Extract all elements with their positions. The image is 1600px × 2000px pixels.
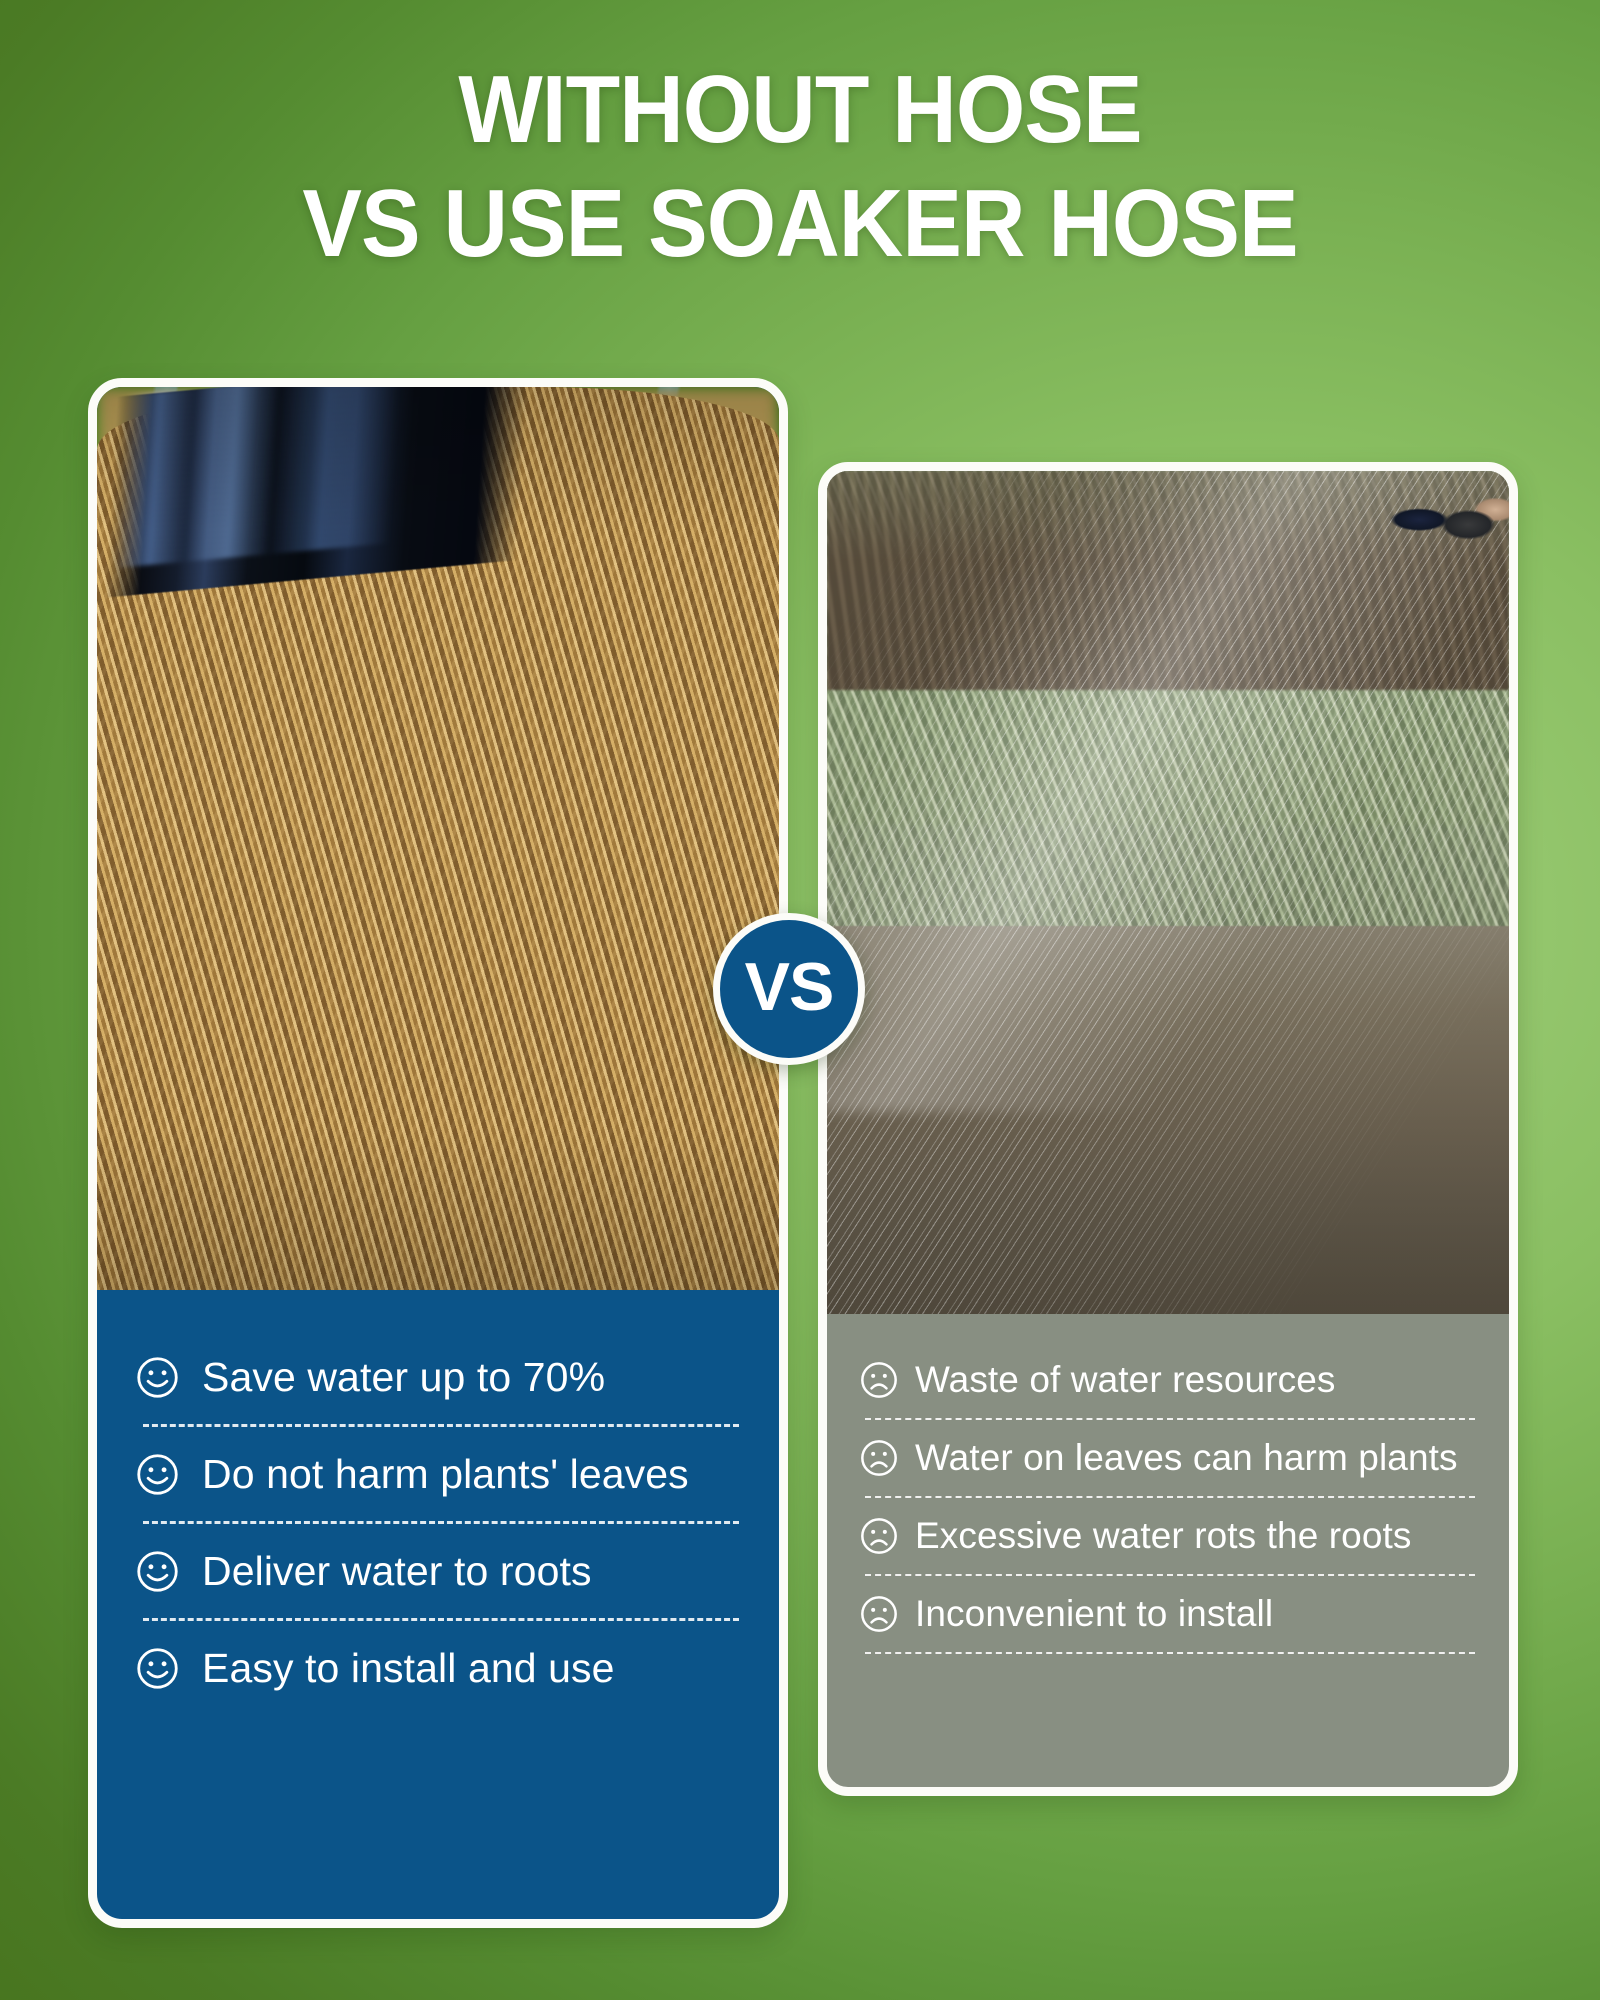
list-item: Water on leaves can harm plants <box>859 1422 1477 1494</box>
sad-face-icon <box>859 1594 899 1634</box>
left-benefits-list: Save water up to 70% Do not harm plants'… <box>97 1290 779 1741</box>
vs-badge-label: VS <box>745 953 834 1021</box>
list-item-label: Water on leaves can harm plants <box>915 1437 1458 1479</box>
list-item-label: Waste of water resources <box>915 1359 1336 1401</box>
smiley-face-icon <box>135 1549 180 1594</box>
right-comparison-card: Waste of water resources Water on leaves… <box>818 462 1518 1796</box>
list-item: Excessive water rots the roots <box>859 1500 1477 1572</box>
list-item: Waste of water resources <box>859 1344 1477 1416</box>
sad-face-icon <box>859 1360 899 1400</box>
list-separator <box>143 1424 739 1427</box>
list-item-label: Do not harm plants' leaves <box>202 1451 689 1498</box>
list-item-label: Excessive water rots the roots <box>915 1515 1412 1557</box>
list-item: Easy to install and use <box>135 1625 741 1711</box>
list-item-label: Save water up to 70% <box>202 1354 605 1401</box>
left-card-photo <box>97 387 779 1290</box>
sad-face-icon <box>859 1438 899 1478</box>
list-item: Do not harm plants' leaves <box>135 1431 741 1517</box>
title-line-1: WITHOUT HOSE <box>56 62 1544 158</box>
smiley-face-icon <box>135 1355 180 1400</box>
list-separator <box>865 1652 1475 1654</box>
photo-vignette-layer <box>97 387 779 1290</box>
list-separator <box>143 1521 739 1524</box>
right-drawbacks-list: Waste of water resources Water on leaves… <box>827 1314 1509 1678</box>
right-card-photo <box>827 471 1509 1314</box>
list-item: Save water up to 70% <box>135 1334 741 1420</box>
vs-badge: VS <box>713 913 865 1065</box>
smiley-face-icon <box>135 1646 180 1691</box>
list-item-label: Deliver water to roots <box>202 1548 592 1595</box>
left-comparison-card: Save water up to 70% Do not harm plants'… <box>88 378 788 1928</box>
list-separator <box>865 1496 1475 1498</box>
title-line-2: VS USE SOAKER HOSE <box>56 176 1544 272</box>
list-separator <box>865 1418 1475 1420</box>
list-item: Deliver water to roots <box>135 1528 741 1614</box>
list-separator <box>143 1618 739 1621</box>
list-item-label: Easy to install and use <box>202 1645 615 1692</box>
page-title: WITHOUT HOSE VS USE SOAKER HOSE <box>56 62 1544 272</box>
sad-face-icon <box>859 1516 899 1556</box>
list-item: Inconvenient to install <box>859 1578 1477 1650</box>
list-item-label: Inconvenient to install <box>915 1593 1273 1635</box>
photo-vignette-layer <box>827 471 1509 1314</box>
smiley-face-icon <box>135 1452 180 1497</box>
list-separator <box>865 1574 1475 1576</box>
